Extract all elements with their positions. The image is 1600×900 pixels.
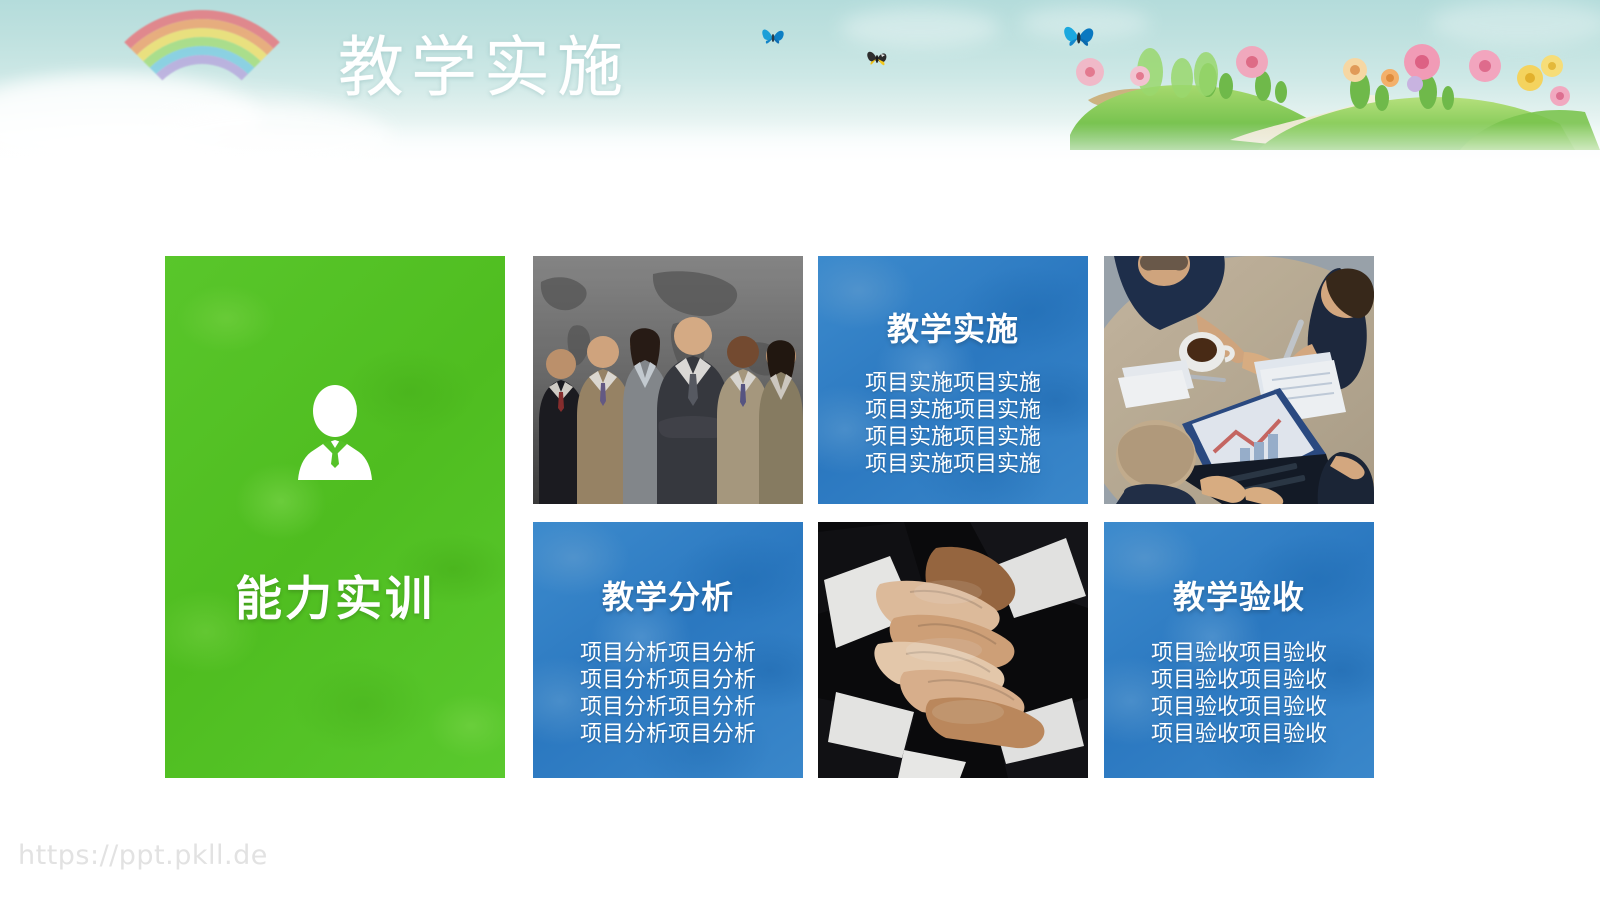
businessman-icon <box>289 384 381 484</box>
card-body: 项目分析项目分析 项目分析项目分析 项目分析项目分析 项目分析项目分析 <box>580 640 756 748</box>
butterfly-yellow-icon <box>862 44 892 79</box>
card-body-line: 项目验收项目验收 <box>1151 667 1327 694</box>
card-title: 教学验收 <box>1173 572 1305 618</box>
card-body-line: 项目验收项目验收 <box>1151 694 1327 721</box>
card-teaching-acceptance[interactable]: 教学验收 项目验收项目验收 项目验收项目验收 项目验收项目验收 项目验收项目验收 <box>1104 522 1374 778</box>
card-body-line: 项目验收项目验收 <box>1151 640 1327 667</box>
card-body-line: 项目实施项目实施 <box>865 370 1041 397</box>
card-body-line: 项目验收项目验收 <box>1151 721 1327 748</box>
card-body-line: 项目分析项目分析 <box>580 640 756 667</box>
slide-canvas: 教学实施 <box>0 0 1600 900</box>
card-body: 项目验收项目验收 项目验收项目验收 项目验收项目验收 项目验收项目验收 <box>1151 640 1327 748</box>
teamwork-hands-photo <box>818 522 1088 778</box>
business-meeting-photo <box>1104 256 1374 504</box>
business-team-photo <box>533 256 803 504</box>
cloud-shape <box>840 8 1000 48</box>
watermark-url: https://ppt.pkll.de <box>18 840 268 871</box>
feature-card-label: 能力实训 <box>235 560 435 629</box>
card-teaching-implementation[interactable]: 教学实施 项目实施项目实施 项目实施项目实施 项目实施项目实施 项目实施项目实施 <box>818 256 1088 504</box>
card-body-line: 项目实施项目实施 <box>865 424 1041 451</box>
card-teaching-analysis[interactable]: 教学分析 项目分析项目分析 项目分析项目分析 项目分析项目分析 项目分析项目分析 <box>533 522 803 778</box>
butterfly-blue-icon <box>758 22 788 57</box>
card-body: 项目实施项目实施 项目实施项目实施 项目实施项目实施 项目实施项目实施 <box>865 370 1041 478</box>
card-title: 教学分析 <box>602 572 734 618</box>
rainbow-arc-icon <box>92 10 312 122</box>
card-body-line: 项目分析项目分析 <box>580 721 756 748</box>
card-body-line: 项目实施项目实施 <box>865 451 1041 478</box>
header-banner: 教学实施 <box>0 0 1600 175</box>
card-body-line: 项目分析项目分析 <box>580 694 756 721</box>
card-body-line: 项目实施项目实施 <box>865 397 1041 424</box>
card-body-line: 项目分析项目分析 <box>580 667 756 694</box>
card-title: 教学实施 <box>887 304 1019 350</box>
grass-hills-landscape-icon <box>1030 0 1600 150</box>
page-title: 教学实施 <box>338 24 630 112</box>
feature-card-ability-training[interactable]: 能力实训 <box>165 256 505 778</box>
